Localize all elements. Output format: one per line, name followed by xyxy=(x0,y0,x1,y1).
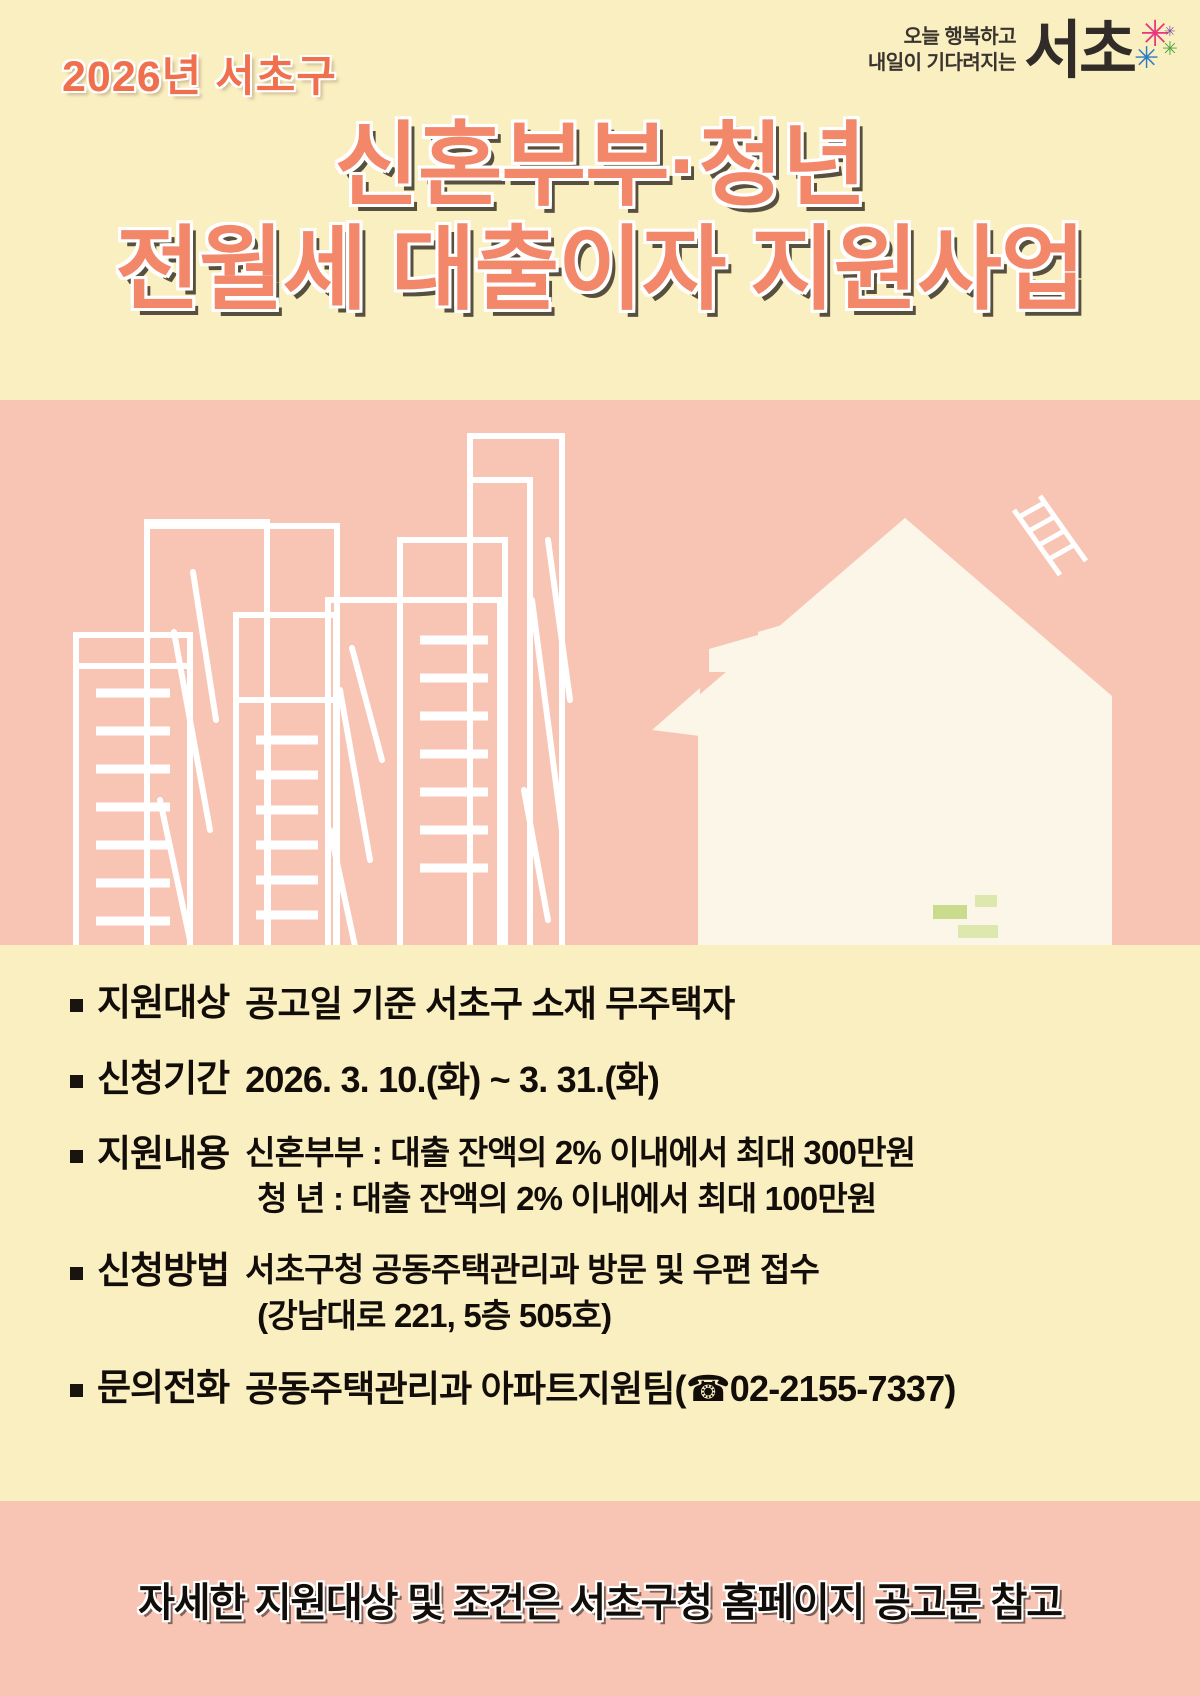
logo-slogan-line2: 내일이 기다려지는 xyxy=(868,50,1016,76)
detail-row-method: 신청방법 서초구청 공동주택관리과 방문 및 우편 접수 (강남대로 221, … xyxy=(0,1247,1200,1338)
detail-body-group: 서초구청 공동주택관리과 방문 및 우편 접수 (강남대로 221, 5층 50… xyxy=(245,1247,819,1338)
detail-label: 문의전화 xyxy=(97,1364,229,1411)
detail-label: 지원대상 xyxy=(97,979,229,1026)
star-purple-icon: ✳ xyxy=(1164,24,1176,38)
detail-row-support: 지원내용 신혼부부 : 대출 잔액의 2% 이내에서 최대 300만원 청 년 … xyxy=(0,1130,1200,1221)
star-blue-icon: ✳ xyxy=(1134,44,1159,74)
logo-wordmark-group: 서초 ✳ ✳ ✳ ✳ xyxy=(1024,22,1178,82)
poster-header: 2026년 서초구 오늘 행복하고 내일이 기다려지는 서초 ✳ ✳ ✳ ✳ 신… xyxy=(0,0,1200,400)
logo-slogan: 오늘 행복하고 내일이 기다려지는 xyxy=(868,24,1016,81)
logo-slogan-line1: 오늘 행복하고 xyxy=(904,24,1016,50)
bullet-square-icon xyxy=(70,999,83,1012)
star-green-icon: ✳ xyxy=(1162,40,1178,59)
bullet-square-icon xyxy=(70,1075,83,1088)
poster-root: 2026년 서초구 오늘 행복하고 내일이 기다려지는 서초 ✳ ✳ ✳ ✳ 신… xyxy=(0,0,1200,1696)
illustration-band xyxy=(0,400,1200,945)
detail-label: 신청방법 xyxy=(97,1247,229,1294)
detail-label: 지원내용 xyxy=(97,1130,229,1177)
seocho-logo: 오늘 행복하고 내일이 기다려지는 서초 ✳ ✳ ✳ ✳ xyxy=(868,22,1178,82)
detail-body: 2026. 3. 10.(화) ~ 3. 31.(화) xyxy=(245,1055,659,1105)
year-label: 2026년 서초구 xyxy=(62,42,337,104)
bullet-square-icon xyxy=(70,1150,83,1163)
bullet-square-icon xyxy=(70,1384,83,1397)
detail-subline: (강남대로 221, 5층 505호) xyxy=(245,1293,819,1339)
detail-body: 공고일 기준 서초구 소재 무주택자 xyxy=(245,979,734,1029)
poster-title: 신혼부부·청년 전월세 대출이자 지원사업 xyxy=(0,118,1200,319)
detail-label: 신청기간 xyxy=(97,1055,229,1102)
illustration-svg xyxy=(0,400,1200,945)
detail-body-group: 신혼부부 : 대출 잔액의 2% 이내에서 최대 300만원 청 년 : 대출 … xyxy=(245,1130,915,1221)
detail-row-period: 신청기간 2026. 3. 10.(화) ~ 3. 31.(화) xyxy=(0,1055,1200,1105)
detail-subline: 청 년 : 대출 잔액의 2% 이내에서 최대 100만원 xyxy=(245,1176,915,1222)
logo-wordmark: 서초 xyxy=(1024,22,1134,82)
title-line-1: 신혼부부·청년 xyxy=(0,118,1200,216)
details-list: 지원대상 공고일 기준 서초구 소재 무주택자 신청기간 2026. 3. 10… xyxy=(0,945,1200,1501)
detail-body: 서초구청 공동주택관리과 방문 및 우편 접수 xyxy=(245,1247,819,1293)
poster-footer: 자세한 지원대상 및 조건은 서초구청 홈페이지 공고문 참고 xyxy=(0,1501,1200,1696)
bullet-square-icon xyxy=(70,1267,83,1280)
detail-row-phone: 문의전화 공동주택관리과 아파트지원팀(☎02-2155-7337) xyxy=(0,1364,1200,1414)
logo-stars-icon: ✳ ✳ ✳ ✳ xyxy=(1132,22,1178,82)
title-line-2: 전월세 대출이자 지원사업 xyxy=(0,222,1200,320)
footer-note: 자세한 지원대상 및 조건은 서초구청 홈페이지 공고문 참고 xyxy=(138,1570,1062,1628)
detail-body: 공동주택관리과 아파트지원팀(☎02-2155-7337) xyxy=(245,1364,955,1414)
detail-row-target: 지원대상 공고일 기준 서초구 소재 무주택자 xyxy=(0,979,1200,1029)
detail-body: 신혼부부 : 대출 잔액의 2% 이내에서 최대 300만원 xyxy=(245,1130,915,1176)
